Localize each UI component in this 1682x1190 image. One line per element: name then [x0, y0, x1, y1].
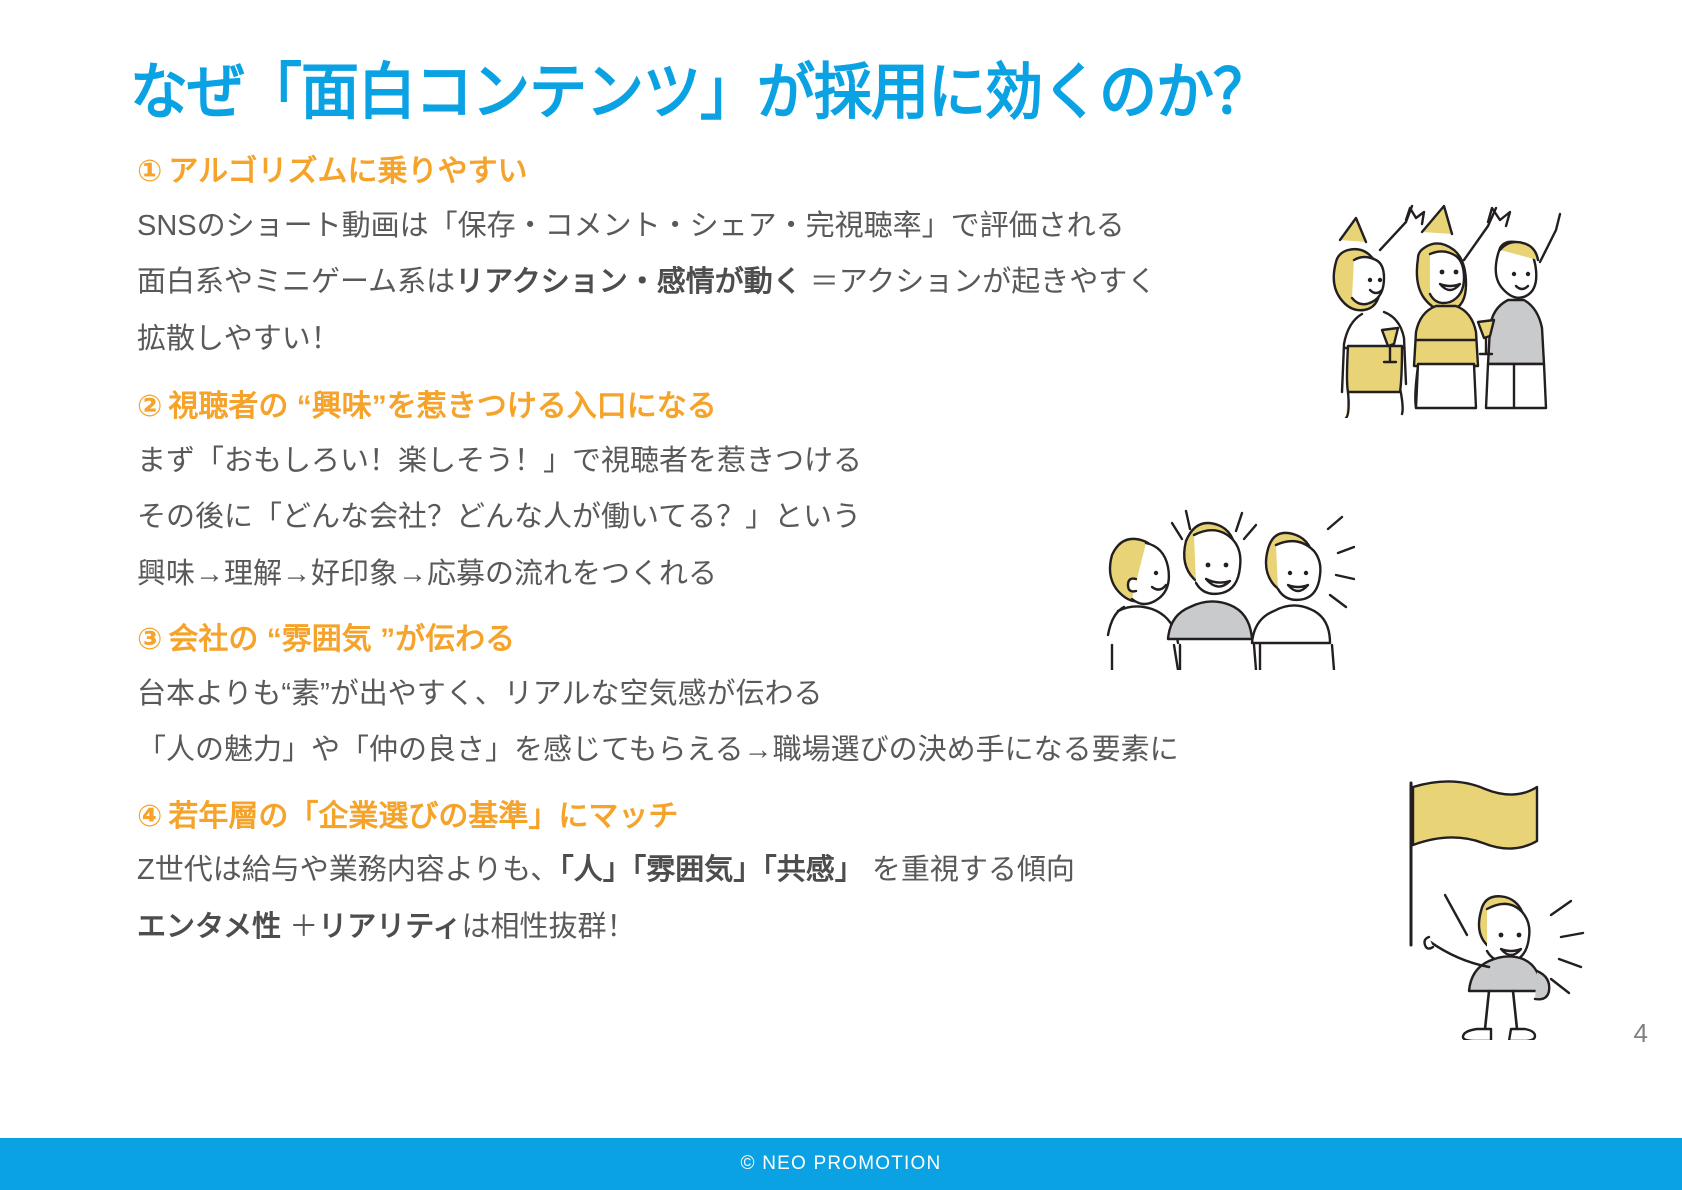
body-line: まず「おもしろい！楽しそう！」で視聴者を惹きつける: [137, 433, 1317, 490]
body-text: 拡散しやすい！: [137, 323, 340, 355]
body-text: 「人の魅力」や「仲の良さ」を感じてもらえる→職場選びの決め手になる要素に: [137, 734, 1179, 766]
body-line: エンタメ性 ＋リアリティは相性抜群！: [137, 899, 1317, 956]
body-text: まず「おもしろい！楽しそう！」で視聴者を惹きつける: [137, 445, 862, 477]
section-number-2: ②: [137, 390, 162, 423]
section-heading-1: ①アルゴリズムに乗りやすい: [137, 150, 1317, 194]
section-heading-text-4: 若年層の「企業選びの基準」にマッチ: [168, 800, 678, 833]
emphasis-text: リアクション・感情が動く: [455, 266, 802, 298]
page-title: なぜ「面白コンテンツ」が採用に効くのか？: [130, 42, 1270, 131]
body-line: 拡散しやすい！: [137, 311, 1317, 368]
body-line: 台本よりも“素”が出やすく、リアルな空気感が伝わる: [137, 666, 1317, 723]
body-line: Z世代は給与や業務内容よりも、「人」「雰囲気」「共感」 を重視する傾向: [137, 842, 1317, 899]
person-with-flag-illustration: [1385, 775, 1635, 1040]
emphasis-text: エンタメ性: [137, 911, 281, 943]
body-text: SNSのショート動画は「保存・コメント・シェア・完視聴率」で評価される: [137, 210, 1125, 242]
section-heading-4: ④若年層の「企業選びの基準」にマッチ: [137, 795, 1317, 839]
section-4: ④若年層の「企業選びの基準」にマッチZ世代は給与や業務内容よりも、「人」「雰囲気…: [137, 795, 1317, 956]
section-heading-text-3: 会社の “雰囲気 ”が伝わる: [168, 623, 515, 656]
body-text: 台本よりも“素”が出やすく、リアルな空気感が伝わる: [137, 678, 822, 710]
emphasis-text: 「人」「雰囲気」「共感」: [559, 854, 864, 886]
body-text: Z世代は給与や業務内容よりも、: [137, 854, 559, 886]
body-text: ＝アクションが起きやすく: [802, 266, 1157, 298]
body-line: SNSのショート動画は「保存・コメント・シェア・完視聴率」で評価される: [137, 198, 1317, 255]
body-text: 面白系やミニゲーム系は: [137, 266, 455, 298]
body-text: その後に「どんな会社？どんな人が働いてる？」という: [137, 501, 861, 533]
section-heading-text-1: アルゴリズムに乗りやすい: [168, 155, 527, 188]
section-1: ①アルゴリズムに乗りやすいSNSのショート動画は「保存・コメント・シェア・完視聴…: [137, 150, 1317, 367]
body-line: 面白系やミニゲーム系はリアクション・感情が動く ＝アクションが起きやすく: [137, 254, 1317, 311]
body-text: 興味→理解→好印象→応募の流れをつくれる: [137, 558, 717, 590]
body-text: は相性抜群！: [461, 911, 635, 943]
section-heading-2: ②視聴者の “興味”を惹きつける入口になる: [137, 385, 1317, 429]
body-text: を重視する傾向: [864, 854, 1075, 886]
slide-root: なぜ「面白コンテンツ」が採用に効くのか？ ①アルゴリズムに乗りやすいSNSのショ…: [0, 0, 1682, 1190]
section-heading-text-2: 視聴者の “興味”を惹きつける入口になる: [168, 390, 716, 423]
footer-bar: © NEO PROMOTION: [0, 1138, 1682, 1190]
section-number-4: ④: [137, 800, 162, 833]
party-celebration-illustration: [1318, 188, 1568, 418]
body-text: ＋: [281, 911, 318, 943]
people-talking-illustration: [1090, 495, 1355, 670]
section-number-1: ①: [137, 155, 162, 188]
emphasis-text: リアリティ: [318, 911, 461, 943]
page-number: 4: [1634, 1018, 1648, 1049]
footer-copyright: © NEO PROMOTION: [741, 1153, 942, 1175]
body-line: 「人の魅力」や「仲の良さ」を感じてもらえる→職場選びの決め手になる要素に: [137, 722, 1317, 779]
section-number-3: ③: [137, 623, 162, 656]
